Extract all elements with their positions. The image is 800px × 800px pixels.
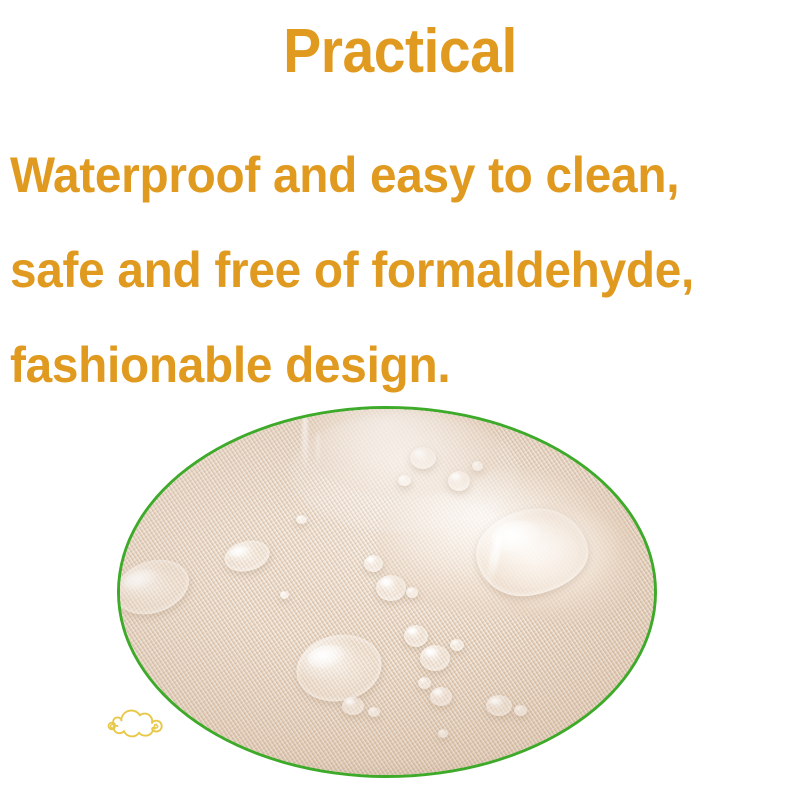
feature-description-line-3: fashionable design. <box>10 318 761 413</box>
cloud-icon <box>104 702 166 744</box>
fabric-vignette <box>120 409 654 775</box>
feature-description-line-1: Waterproof and easy to clean, <box>10 128 761 223</box>
page-title: Practical <box>32 16 768 88</box>
feature-description-line-2: safe and free of formaldehyde, <box>10 223 761 318</box>
feature-description: Waterproof and easy to clean, safe and f… <box>10 128 796 413</box>
fabric-photo-oval: Close-up of beige waterproof woven fabri… <box>117 406 657 778</box>
product-feature-slide: Practical Waterproof and easy to clean, … <box>0 0 800 800</box>
headline-block: Practical Waterproof and easy to clean, … <box>0 0 800 400</box>
